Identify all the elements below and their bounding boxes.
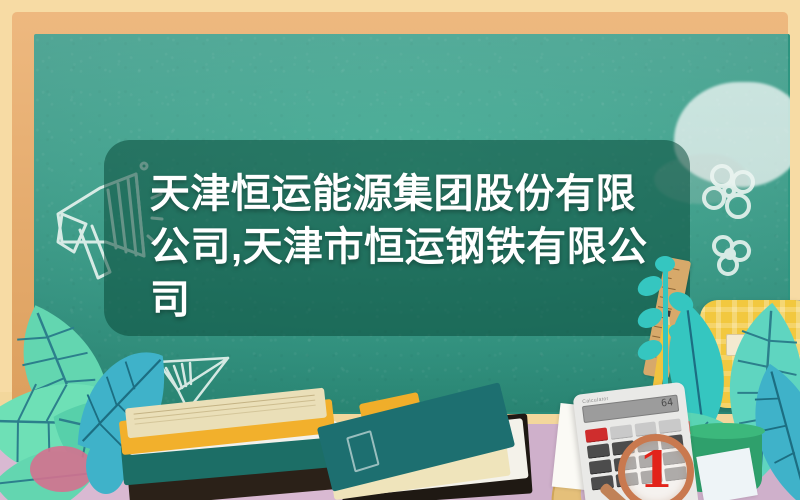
calculator-display-value: 64 <box>661 397 674 409</box>
flower-icon <box>700 162 760 224</box>
banner-canvas: 天津恒运能源集团股份有限公司,天津市恒运钢铁有限公司 <box>0 0 800 500</box>
magnifier-icon: 1 <box>618 434 694 500</box>
decor-blob <box>30 446 94 492</box>
paper-sheet <box>696 448 758 500</box>
flower-small-icon <box>706 232 754 280</box>
magnifier-digit: 1 <box>618 438 694 500</box>
page-title: 天津恒运能源集团股份有限公司,天津市恒运钢铁有限公司 <box>150 168 670 326</box>
